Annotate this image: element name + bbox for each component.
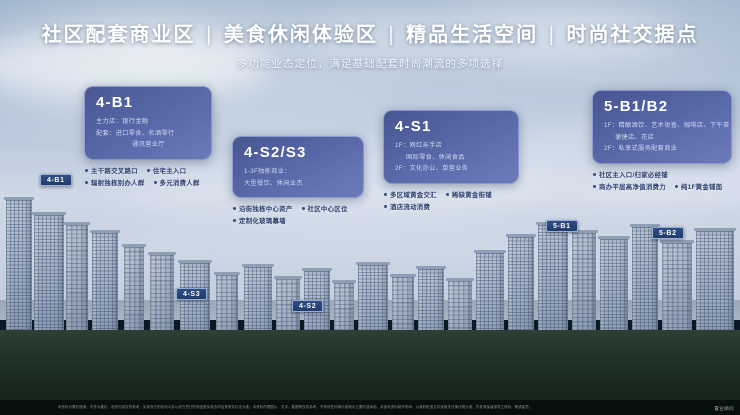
title-part-4: 时尚社交据点 (566, 24, 698, 46)
callout-line: 1F：精酿酒饮、艺术妆查、咖啡店、下午茶 (604, 120, 721, 131)
bullet-item: 多区域黄金交汇 (384, 190, 437, 199)
bullet-dot-icon (233, 219, 236, 222)
footer-logo: 置业顾问 (714, 406, 734, 412)
callout-line: 1F：网红亲手店 (395, 140, 508, 151)
callout-title: 5-B1/B2 (604, 98, 721, 115)
callout-title: 4-S2/S3 (244, 144, 353, 161)
bullet-item: 多元消费人群 (154, 178, 200, 187)
callout-card: 4-S2/S3 1-3F独栋商业： 大型餐饮、休闲业杰 (232, 136, 364, 198)
callout-4-b1[interactable]: 4-B1 主力店：银行金融 配套：进口零食、名酒零行 通讯营业厅 主干路交叉路口… (84, 86, 212, 190)
bullet-dot-icon (593, 185, 596, 188)
callout-card: 5-B1/B2 1F：精酿酒饮、艺术妆查、咖啡店、下午茶 便捷店、花店 2F：私… (592, 90, 732, 164)
callout-bullets: 多区域黄金交汇 稀缺黄金街铺 酒店流动消费 (383, 190, 519, 211)
callout-line: 2F：文化办公、单营业务 (395, 163, 508, 174)
bullet-label: 商办平层高净值消费力 (599, 182, 666, 191)
bullet-label: 沿街独栋中心资产 (239, 204, 293, 213)
callout-card: 4-B1 主力店：银行金融 配套：进口零食、名酒零行 通讯营业厅 (84, 86, 212, 160)
callout-line: 1-3F独栋商业： (244, 166, 353, 177)
bullet-label: 住宅主入口 (153, 166, 186, 175)
callout-line: 2F：私享式服务配套商业 (604, 143, 721, 154)
title-part-3: 精品生活空间 (406, 24, 538, 46)
bullet-label: 酒店流动消费 (390, 202, 430, 211)
bullet-dot-icon (85, 181, 88, 184)
bullet-dot-icon (384, 193, 387, 196)
callout-4-s2-s3[interactable]: 4-S2/S3 1-3F独栋商业： 大型餐饮、休闲业杰 沿街独栋中心资产 社区中… (232, 136, 364, 228)
bullet-label: 辐射独栋别办人群 (91, 178, 145, 187)
header-block: 社区配套商业区 | 美食休闲体验区 | 精品生活空间 | 时尚社交据点 多功能业… (0, 18, 740, 71)
bullet-label: 稀缺黄金街铺 (452, 190, 492, 199)
bullet-dot-icon (85, 169, 88, 172)
building-tag-5-b1[interactable]: 5-B1 (546, 220, 578, 232)
callout-card: 4-S1 1F：网红亲手店 国际零食、休闲食品 2F：文化办公、单营业务 (383, 110, 519, 184)
title-separator: | (385, 24, 398, 46)
callout-line: 主力店：银行金融 (96, 116, 201, 127)
callout-5-b1-b2[interactable]: 5-B1/B2 1F：精酿酒饮、艺术妆查、咖啡店、下午茶 便捷店、花店 2F：私… (592, 90, 732, 194)
bullet-dot-icon (675, 185, 678, 188)
callout-bullets: 沿街独栋中心资产 社区中心区位 定制化玻璃幕墙 (232, 204, 364, 225)
building-tag-5-b2[interactable]: 5-B2 (652, 227, 684, 239)
callout-bullets: 主干路交叉路口 住宅主入口 辐射独栋别办人群 多元消费人群 (84, 166, 212, 187)
bullet-label: 社区中心区位 (308, 204, 348, 213)
bullet-item: 社区主入口/归家必经铺 (593, 170, 668, 179)
title-separator: | (203, 24, 216, 46)
bullet-item: 商办平层高净值消费力 (593, 182, 666, 191)
bullet-item: 纯1F黄金铺面 (675, 182, 723, 191)
bullet-dot-icon (154, 181, 157, 184)
building-tag-4-s3[interactable]: 4-S3 (176, 288, 207, 300)
callout-line: 配套：进口零食、名酒零行 (96, 128, 201, 139)
callout-title: 4-S1 (395, 118, 508, 135)
bullet-dot-icon (233, 207, 236, 210)
bullet-label: 多区域黄金交汇 (390, 190, 437, 199)
bullet-item: 社区中心区位 (302, 204, 348, 213)
bullet-label: 主干路交叉路口 (91, 166, 138, 175)
building-tag-4-s2[interactable]: 4-S2 (292, 300, 323, 312)
bullet-dot-icon (446, 193, 449, 196)
disclaimer-text: 本资料为要约邀请，不作为要约，相关内容仅供参考，买卖双方的权利义务以双方签订的商… (0, 405, 532, 409)
footer-disclaimer-bar: 本资料为要约邀请，不作为要约，相关内容仅供参考，买卖双方的权利义务以双方签订的商… (0, 400, 740, 415)
bullet-dot-icon (593, 173, 596, 176)
callout-line: 通讯营业厅 (96, 139, 201, 150)
page-title: 社区配套商业区 | 美食休闲体验区 | 精品生活空间 | 时尚社交据点 (0, 18, 740, 47)
bullet-item: 沿街独栋中心资产 (233, 204, 293, 213)
bullet-item: 酒店流动消费 (384, 202, 430, 211)
bullet-item: 定制化玻璃幕墙 (233, 216, 286, 225)
page-subtitle: 多功能业态定位，满足基础配套时尚潮流的多项选择 (0, 56, 740, 71)
bullet-item: 稀缺黄金街铺 (446, 190, 492, 199)
bullet-dot-icon (302, 207, 305, 210)
title-separator: | (546, 24, 559, 46)
title-part-2: 美食休闲体验区 (224, 24, 378, 46)
bullet-dot-icon (147, 169, 150, 172)
bullet-item: 主干路交叉路口 (85, 166, 138, 175)
bullet-label: 定制化玻璃幕墙 (239, 216, 286, 225)
title-part-1: 社区配套商业区 (42, 24, 196, 46)
callout-title: 4-B1 (96, 94, 201, 111)
bullet-label: 多元消费人群 (160, 178, 200, 187)
marketing-poster: 社区配套商业区 | 美食休闲体验区 | 精品生活空间 | 时尚社交据点 多功能业… (0, 0, 740, 415)
callout-bullets: 社区主入口/归家必经铺 商办平层高净值消费力 纯1F黄金铺面 (592, 170, 732, 191)
bullet-item: 辐射独栋别办人群 (85, 178, 145, 187)
bullet-label: 社区主入口/归家必经铺 (599, 170, 668, 179)
callout-4-s1[interactable]: 4-S1 1F：网红亲手店 国际零食、休闲食品 2F：文化办公、单营业务 多区域… (383, 110, 519, 214)
callout-line: 国际零食、休闲食品 (395, 152, 508, 163)
bullet-dot-icon (384, 205, 387, 208)
bullet-item: 住宅主入口 (147, 166, 186, 175)
building-tag-4-b1[interactable]: 4-B1 (40, 174, 72, 186)
bullet-label: 纯1F黄金铺面 (681, 182, 723, 191)
callout-line: 大型餐饮、休闲业杰 (244, 178, 353, 189)
callout-line: 便捷店、花店 (604, 132, 721, 143)
